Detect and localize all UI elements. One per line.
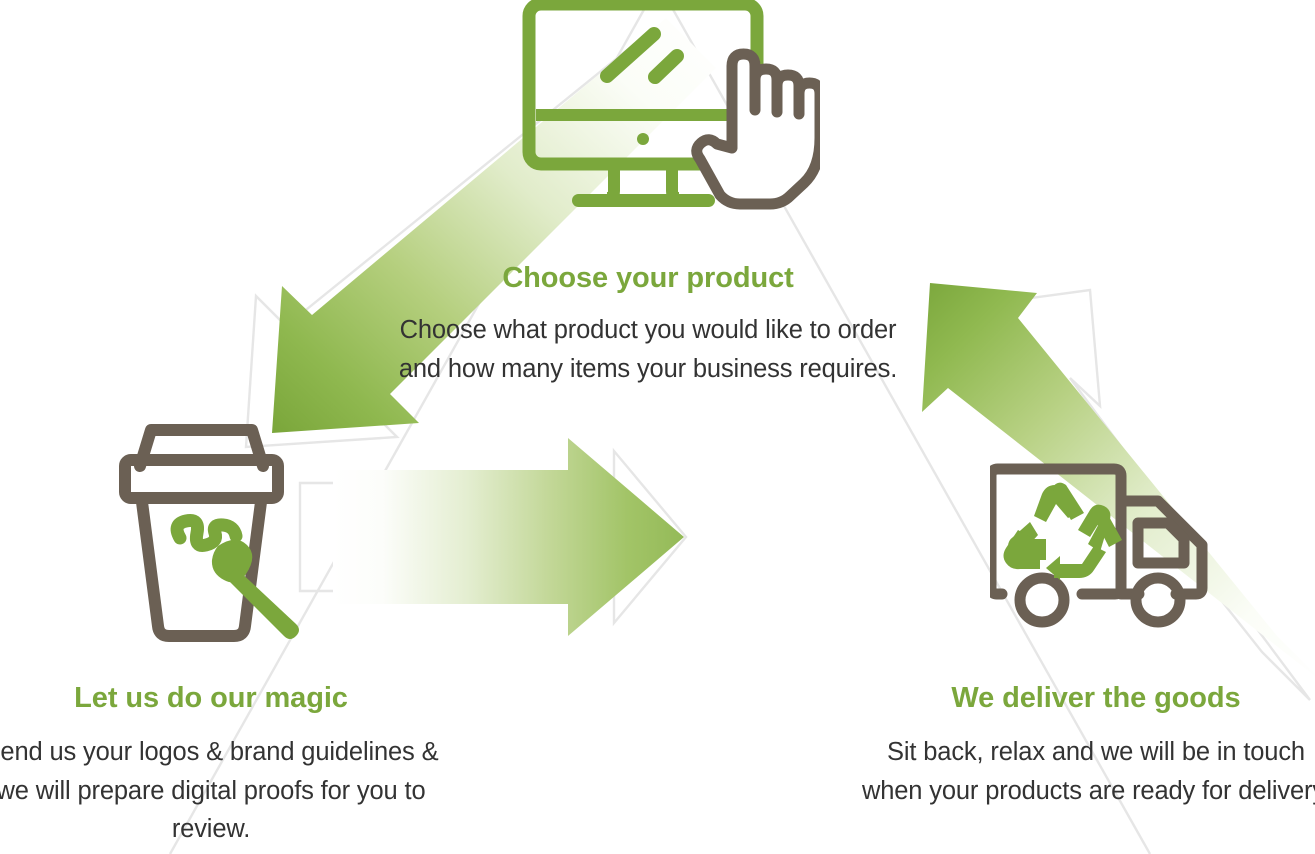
monitor-pointer-icon xyxy=(520,0,820,224)
step-heading-let-us-do-our-magic: Let us do our magic xyxy=(0,682,446,715)
infographic-canvas: Choose your product Choose what product … xyxy=(0,0,1315,854)
step-heading-we-deliver-the-goods: We deliver the goods xyxy=(856,682,1315,715)
step-body-we-deliver-the-goods: Sit back, relax and we will be in touch … xyxy=(856,733,1315,810)
step-heading-choose-your-product: Choose your product xyxy=(398,262,898,295)
step-block-choose-your-product: Choose your product Choose what product … xyxy=(398,262,898,388)
step-block-let-us-do-our-magic: Let us do our magic Send us your logos &… xyxy=(0,682,446,848)
coffee-cup-paintbrush-icon xyxy=(118,418,318,648)
step-body-choose-your-product: Choose what product you would like to or… xyxy=(398,311,898,388)
step-block-we-deliver-the-goods: We deliver the goods Sit back, relax and… xyxy=(856,682,1315,810)
step-body-let-us-do-our-magic: Send us your logos & brand guidelines & … xyxy=(0,733,446,848)
arrow-right-icon xyxy=(333,438,684,636)
delivery-truck-recycle-icon xyxy=(990,460,1218,630)
